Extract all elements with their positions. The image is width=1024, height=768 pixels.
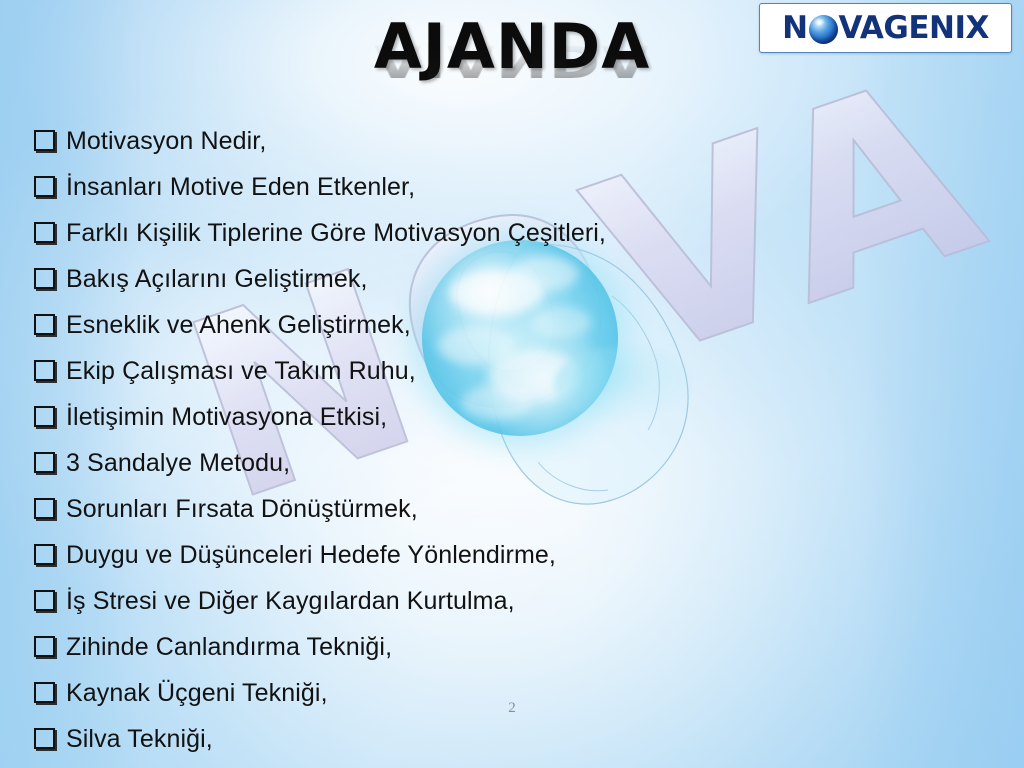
hollow-square-bullet-icon bbox=[34, 360, 55, 381]
list-item-label: İletişimin Motivasyona Etkisi, bbox=[66, 394, 387, 440]
list-item-label: Farklı Kişilik Tiplerine Göre Motivasyon… bbox=[66, 210, 606, 256]
list-item: Sorunları Fırsata Dönüştürmek, bbox=[34, 486, 734, 532]
hollow-square-bullet-icon bbox=[34, 268, 55, 289]
hollow-square-bullet-icon bbox=[34, 130, 55, 151]
list-item-label: İş Stresi ve Diğer Kaygılardan Kurtulma, bbox=[66, 578, 515, 624]
list-item: Esneklik ve Ahenk Geliştirmek, bbox=[34, 302, 734, 348]
list-item: Farklı Kişilik Tiplerine Göre Motivasyon… bbox=[34, 210, 734, 256]
hollow-square-bullet-icon bbox=[34, 590, 55, 611]
logo-text-after: VAGENIX bbox=[839, 13, 989, 44]
hollow-square-bullet-icon bbox=[34, 498, 55, 519]
list-item-label: Motivasyon Nedir, bbox=[66, 118, 266, 164]
hollow-square-bullet-icon bbox=[34, 176, 55, 197]
novagenix-logo[interactable]: N VAGENIX bbox=[759, 3, 1012, 53]
list-item: Silva Tekniği, bbox=[34, 716, 734, 762]
list-item: Ekip Çalışması ve Takım Ruhu, bbox=[34, 348, 734, 394]
page-number: 2 bbox=[0, 700, 1024, 717]
logo-text-before: N bbox=[782, 13, 807, 44]
hollow-square-bullet-icon bbox=[34, 406, 55, 427]
list-item: Duygu ve Düşünceleri Hedefe Yönlendirme, bbox=[34, 532, 734, 578]
list-item-label: Zihinde Canlandırma Tekniği, bbox=[66, 624, 392, 670]
agenda-list: Motivasyon Nedir, İnsanları Motive Eden … bbox=[34, 118, 734, 762]
hollow-square-bullet-icon bbox=[34, 636, 55, 657]
list-item-label: Silva Tekniği, bbox=[66, 716, 213, 762]
hollow-square-bullet-icon bbox=[34, 728, 55, 749]
list-item: 3 Sandalye Metodu, bbox=[34, 440, 734, 486]
list-item: Zihinde Canlandırma Tekniği, bbox=[34, 624, 734, 670]
presentation-slide: NOVA AJANDA AJANDA N bbox=[0, 0, 1024, 768]
list-item-label: Ekip Çalışması ve Takım Ruhu, bbox=[66, 348, 416, 394]
list-item-label: Bakış Açılarını Geliştirmek, bbox=[66, 256, 368, 302]
list-item: Bakış Açılarını Geliştirmek, bbox=[34, 256, 734, 302]
hollow-square-bullet-icon bbox=[34, 452, 55, 473]
list-item: İletişimin Motivasyona Etkisi, bbox=[34, 394, 734, 440]
list-item: İnsanları Motive Eden Etkenler, bbox=[34, 164, 734, 210]
list-item: İş Stresi ve Diğer Kaygılardan Kurtulma, bbox=[34, 578, 734, 624]
hollow-square-bullet-icon bbox=[34, 544, 55, 565]
list-item-label: 3 Sandalye Metodu, bbox=[66, 440, 290, 486]
list-item-label: Duygu ve Düşünceleri Hedefe Yönlendirme, bbox=[66, 532, 556, 578]
logo-wordmark: N VAGENIX bbox=[782, 13, 989, 44]
list-item-label: Sorunları Fırsata Dönüştürmek, bbox=[66, 486, 418, 532]
list-item: Motivasyon Nedir, bbox=[34, 118, 734, 164]
list-item-label: İnsanları Motive Eden Etkenler, bbox=[66, 164, 415, 210]
list-item-label: Esneklik ve Ahenk Geliştirmek, bbox=[66, 302, 411, 348]
hollow-square-bullet-icon bbox=[34, 222, 55, 243]
globe-sphere-icon bbox=[809, 15, 838, 44]
hollow-square-bullet-icon bbox=[34, 314, 55, 335]
